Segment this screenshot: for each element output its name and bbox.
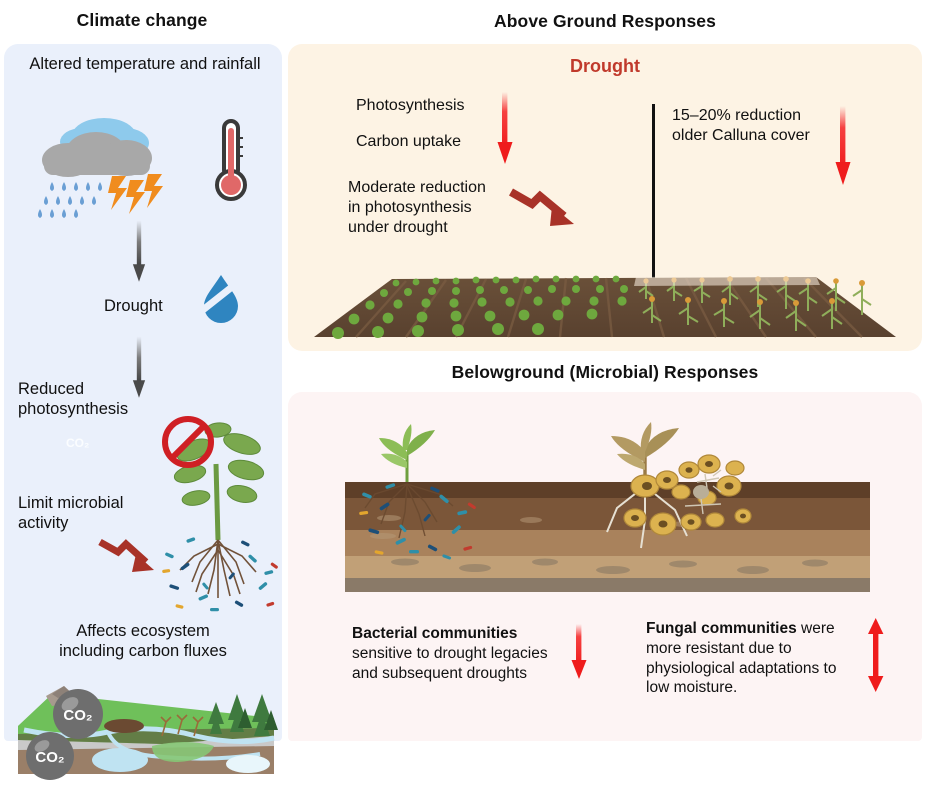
bacterial-line2: sensitive to drought legacies xyxy=(352,645,548,662)
moderate-reduction-label: Moderate reduction in photosynthesis und… xyxy=(348,178,486,238)
climate-change-panel: Altered temperature and rainfall xyxy=(4,44,282,741)
thermometer-icon xyxy=(207,116,255,208)
fungal-bold-label: Fungal communities xyxy=(646,620,797,637)
drought-heading: Drought xyxy=(288,56,922,77)
page-title-belowground: Belowground (Microbial) Responses xyxy=(288,362,922,383)
fungal-line3: physiological adaptations to xyxy=(646,660,836,677)
limit-microbial-activity-label: Limit microbial activity xyxy=(18,494,123,534)
above-ground-responses-panel: Drought Photosynthesis Carbon uptake Mod… xyxy=(288,44,922,351)
photosynthesis-label: Photosynthesis xyxy=(356,96,465,116)
reduced-photosynthesis-label: Reduced photosynthesis xyxy=(18,380,128,420)
ecosystem-co2-lower-label: CO₂ xyxy=(35,749,64,766)
down-arrow-icon xyxy=(570,624,588,682)
down-arrow-icon xyxy=(132,216,146,288)
fungal-line2: more resistant due to xyxy=(646,640,792,657)
double-headed-vertical-arrow-icon xyxy=(866,618,886,692)
soil-cross-section-illustration xyxy=(345,420,870,610)
bacterial-bold-label: Bacterial communities xyxy=(352,625,517,642)
ecosystem-block-icon: CO₂ CO₂ xyxy=(12,678,280,783)
page-title-above-ground: Above Ground Responses xyxy=(288,11,922,32)
affects-ecosystem-label: Affects ecosystem including carbon fluxe… xyxy=(34,622,252,662)
no-water-drop-icon xyxy=(194,269,248,325)
carbon-uptake-label: Carbon uptake xyxy=(356,132,461,152)
zigzag-down-arrow-icon xyxy=(506,186,584,234)
lightning-icon xyxy=(108,174,163,214)
plant-with-roots-icon xyxy=(150,412,290,612)
green-seedling xyxy=(379,424,435,482)
bacterial-line3: and subsequent droughts xyxy=(352,665,527,682)
altered-temperature-heading: Altered temperature and rainfall xyxy=(16,55,274,74)
calluna-reduction-label: 15–20% reduction older Calluna cover xyxy=(672,106,810,146)
prohibition-sign-icon xyxy=(160,414,216,470)
ecosystem-co2-upper-label: CO₂ xyxy=(63,707,92,724)
fungal-line4: low moisture. xyxy=(646,679,737,696)
down-arrow-icon xyxy=(132,332,146,404)
fungal-rest-1: were xyxy=(797,620,835,637)
down-arrow-icon xyxy=(496,92,514,167)
belowground-responses-panel: Bacterial communities sensitive to droug… xyxy=(288,392,922,741)
zigzag-down-arrow-icon xyxy=(96,536,162,578)
down-arrow-icon xyxy=(834,106,852,188)
fungal-communities-text: Fungal communities were more resistant d… xyxy=(646,619,868,698)
weather-icon-group xyxy=(22,110,266,222)
bacterial-communities-text: Bacterial communities sensitive to droug… xyxy=(352,624,602,683)
crop-field-illustration xyxy=(296,239,914,345)
co2-overlay-label: CO₂ xyxy=(66,436,89,450)
drought-label: Drought xyxy=(104,297,163,317)
page-title-climate-change: Climate change xyxy=(32,10,252,31)
